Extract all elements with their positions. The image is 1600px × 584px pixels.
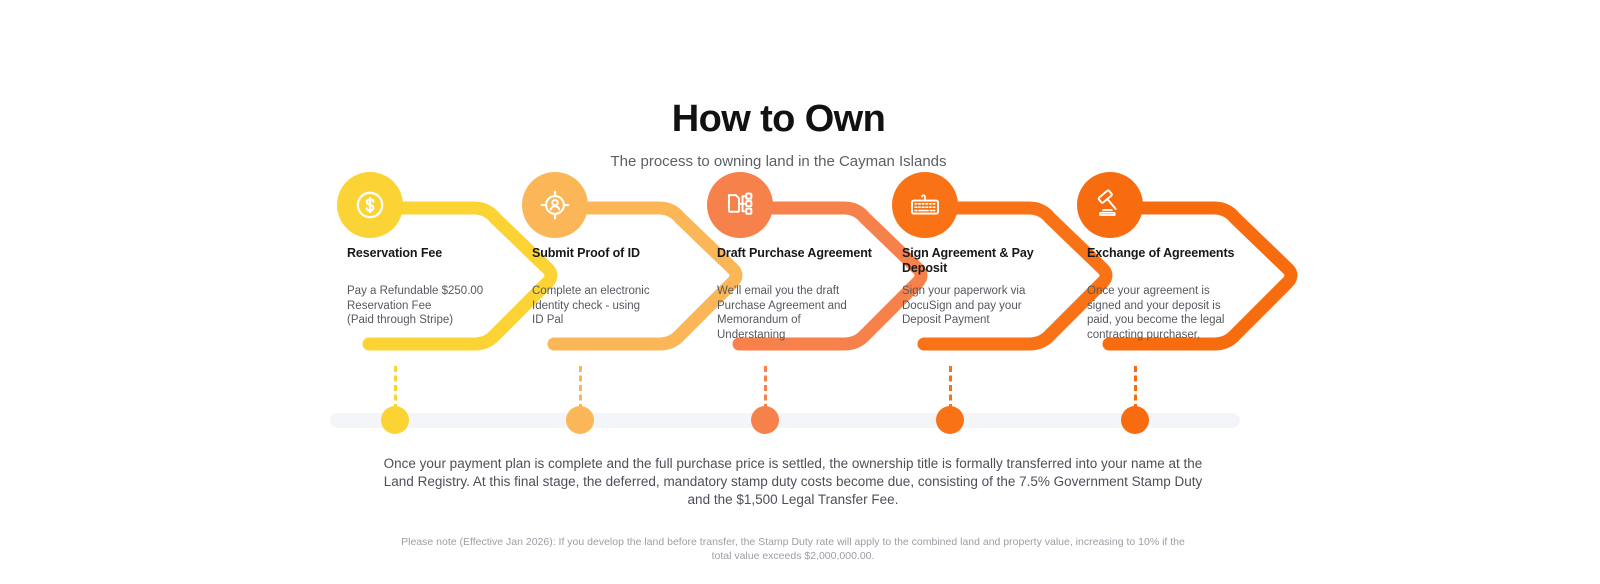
document-flow-icon xyxy=(723,188,757,222)
step-desc-3: We'll email you the draft Purchase Agree… xyxy=(717,284,882,342)
timeline-node-4[interactable] xyxy=(936,406,964,434)
timeline-track xyxy=(330,413,1240,428)
timeline-dash-3 xyxy=(764,366,767,410)
step-title-4: Sign Agreement & Pay Deposit xyxy=(902,246,1062,276)
dollar-coin-icon xyxy=(353,188,387,222)
step-icon-2 xyxy=(522,172,588,238)
step-desc-2: Complete an electronic Identity check - … xyxy=(532,284,697,328)
step-icon-1 xyxy=(337,172,403,238)
how-to-own-infographic: How to Own The process to owning land in… xyxy=(0,0,1600,584)
footer: Once your payment plan is complete and t… xyxy=(0,455,1586,563)
steps-row: Reservation Fee Pay a Refundable $250.00… xyxy=(0,172,1600,372)
page-subtitle: The process to owning land in the Cayman… xyxy=(0,152,1557,172)
step-desc-5: Once your agreement is signed and your d… xyxy=(1087,284,1252,342)
timeline-dash-5 xyxy=(1134,366,1137,410)
keyboard-icon xyxy=(907,187,943,223)
step-title-3: Draft Purchase Agreement xyxy=(717,246,877,261)
step-icon-3 xyxy=(707,172,773,238)
header: How to Own The process to owning land in… xyxy=(0,96,1557,172)
step-desc-4: Sign your paperwork via DocuSign and pay… xyxy=(902,284,1067,328)
step-title-5: Exchange of Agreements xyxy=(1087,246,1247,261)
step-title-2: Submit Proof of ID xyxy=(532,246,692,261)
page-title: How to Own xyxy=(0,96,1557,142)
timeline-dash-1 xyxy=(394,366,397,410)
timeline-node-3[interactable] xyxy=(751,406,779,434)
step-title-1: Reservation Fee xyxy=(347,246,507,261)
timeline-node-1[interactable] xyxy=(381,406,409,434)
timeline-dash-4 xyxy=(949,366,952,410)
step-card-5[interactable]: Exchange of Agreements Once your agreeme… xyxy=(1069,172,1399,372)
timeline-node-5[interactable] xyxy=(1121,406,1149,434)
gavel-icon xyxy=(1092,187,1128,223)
footer-note-text: Please note (Effective Jan 2026): If you… xyxy=(398,535,1188,563)
step-desc-1: Pay a Refundable $250.00 Reservation Fee… xyxy=(347,284,512,328)
timeline-dash-2 xyxy=(579,366,582,410)
timeline-node-2[interactable] xyxy=(566,406,594,434)
step-icon-5 xyxy=(1077,172,1143,238)
step-icon-4 xyxy=(892,172,958,238)
footer-main-text: Once your payment plan is complete and t… xyxy=(373,455,1213,509)
identity-target-icon xyxy=(538,188,572,222)
